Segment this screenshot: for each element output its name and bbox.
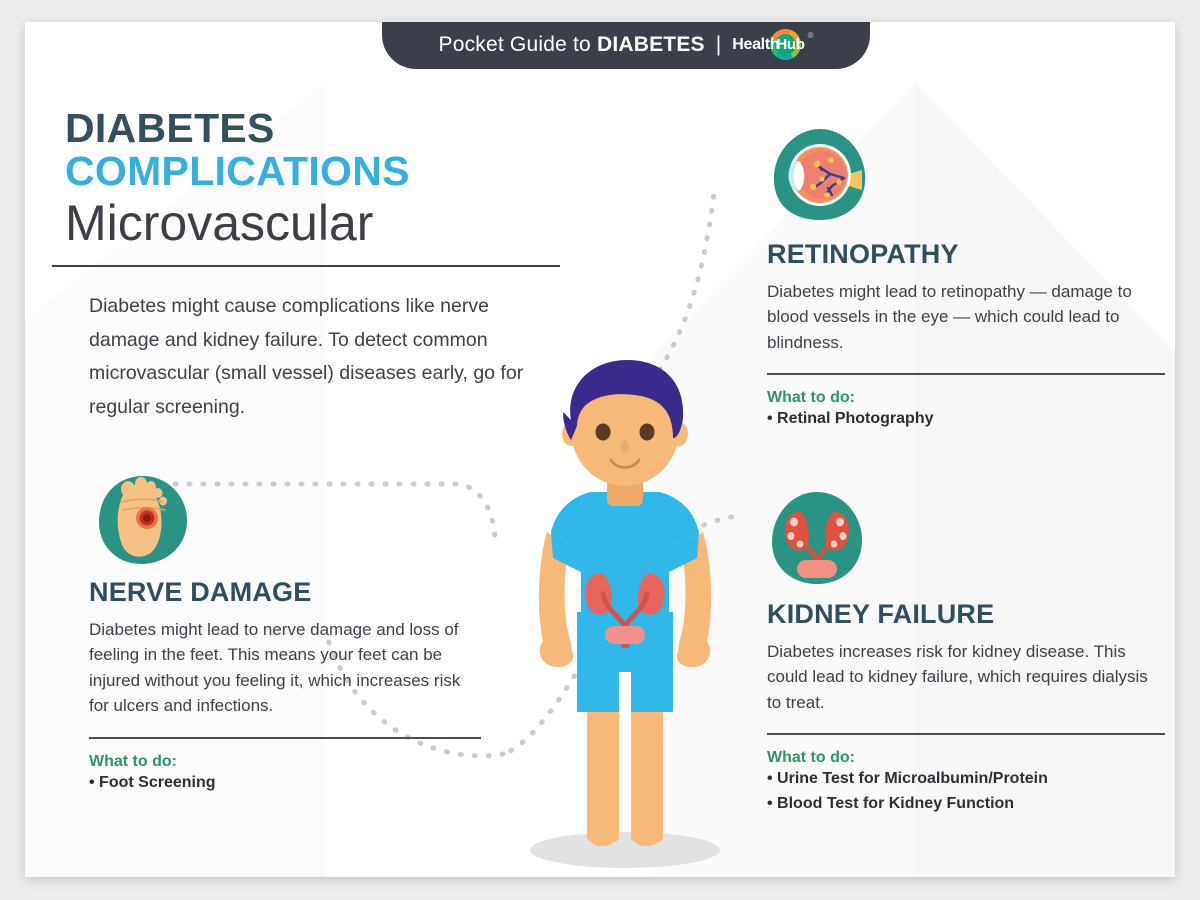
section-retinopathy: RETINOPATHY Diabetes might lead to retin… bbox=[767, 240, 1165, 432]
title-line-complications: DIABETES COMPLICATIONS bbox=[65, 107, 585, 193]
section-divider-kidney-failure bbox=[767, 733, 1165, 735]
what-to-do-item: • Blood Test for Kidney Function bbox=[767, 792, 1165, 816]
infographic-page: Pocket Guide to DIABETES | Health Hub ® … bbox=[0, 0, 1200, 900]
logo-word-health: Health bbox=[732, 36, 779, 54]
what-to-do-item: • Urine Test for Microalbumin/Protein bbox=[767, 767, 1165, 791]
kidney-icon bbox=[767, 488, 867, 588]
title-divider bbox=[52, 265, 560, 267]
section-nerve-damage: NERVE DAMAGE Diabetes might lead to nerv… bbox=[89, 578, 481, 795]
section-body-retinopathy: Diabetes might lead to retinopathy — dam… bbox=[767, 279, 1165, 356]
what-to-do-item: • Foot Screening bbox=[89, 771, 481, 795]
what-to-do-label-nerve-damage: What to do: bbox=[89, 753, 481, 771]
what-to-do-label-kidney-failure: What to do: bbox=[767, 749, 1165, 767]
what-to-do-label-retinopathy: What to do: bbox=[767, 389, 1165, 407]
what-to-do-item: • Retinal Photography bbox=[767, 407, 1165, 431]
section-body-nerve-damage: Diabetes might lead to nerve damage and … bbox=[89, 617, 481, 719]
logo-word-hub: Hub bbox=[776, 36, 804, 53]
boy-with-kidneys-illustration bbox=[495, 342, 755, 872]
header-separator: | bbox=[716, 33, 721, 57]
infographic-card: Pocket Guide to DIABETES | Health Hub ® … bbox=[25, 22, 1175, 877]
section-body-kidney-failure: Diabetes increases risk for kidney disea… bbox=[767, 639, 1165, 716]
healthhub-logo[interactable]: Health Hub ® bbox=[732, 29, 813, 60]
section-kidney-failure: KIDNEY FAILURE Diabetes increases risk f… bbox=[767, 600, 1165, 816]
section-title-retinopathy: RETINOPATHY bbox=[767, 240, 1165, 270]
eye-icon bbox=[770, 124, 870, 224]
foot-icon bbox=[95, 472, 191, 568]
logo-trademark-icon: ® bbox=[808, 31, 814, 40]
header-title: Pocket Guide to DIABETES bbox=[439, 33, 705, 57]
section-title-nerve-damage: NERVE DAMAGE bbox=[89, 578, 481, 608]
section-title-kidney-failure: KIDNEY FAILURE bbox=[767, 600, 1165, 630]
title-word-complications: COMPLICATIONS bbox=[65, 148, 410, 194]
intro-paragraph: Diabetes might cause complications like … bbox=[89, 290, 529, 424]
section-divider-nerve-damage bbox=[89, 737, 481, 739]
page-title: DIABETES COMPLICATIONS Microvascular bbox=[65, 107, 585, 251]
header-bar: Pocket Guide to DIABETES | Health Hub ® bbox=[382, 22, 870, 69]
section-divider-retinopathy bbox=[767, 373, 1165, 375]
title-line-microvascular: Microvascular bbox=[65, 195, 585, 251]
title-word-diabetes: DIABETES bbox=[65, 105, 275, 151]
